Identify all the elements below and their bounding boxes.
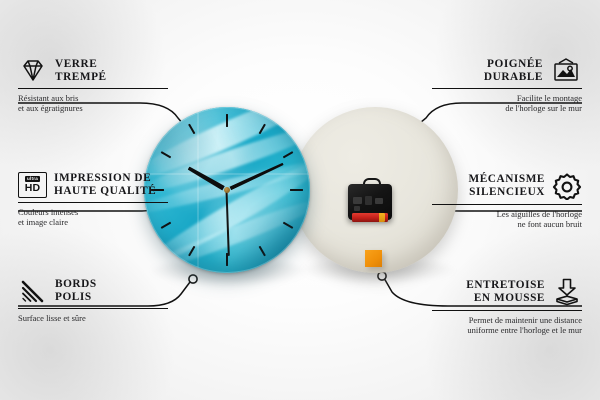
- callout-entretoise-en-mousse[interactable]: ENTRETOISE EN MOUSSE Permet de maintenir…: [432, 278, 582, 336]
- callout-bords-polis[interactable]: BORDS POLIS Surface lisse et sûre: [18, 278, 168, 323]
- callout-description: ne font aucun bruit: [432, 219, 582, 229]
- callout-description: Les aiguilles de l'horloge: [432, 209, 582, 219]
- callout-description: de l'horloge sur le mur: [432, 103, 582, 113]
- callout-divider: [432, 310, 582, 311]
- callout-description: et image claire: [18, 217, 168, 227]
- front-clock-face: [144, 107, 310, 273]
- callout-title: BORDS: [55, 278, 97, 291]
- gear-icon: [552, 172, 582, 200]
- callout-description: et aux égratignures: [18, 103, 168, 113]
- callout-description: Surface lisse et sûre: [18, 313, 168, 323]
- callout-title: POIGNÉE: [484, 58, 543, 71]
- callout-description: Couleurs intenses: [18, 207, 168, 217]
- glass-rim: [144, 107, 310, 273]
- diamond-icon: [18, 58, 48, 84]
- callout-title: DURABLE: [484, 71, 543, 84]
- callout-impression-haute-qualite[interactable]: ultra HD IMPRESSION DE HAUTE QUALITÉ Cou…: [18, 172, 168, 228]
- ultra-hd-icon-large-text: HD: [25, 183, 41, 194]
- callout-divider: [432, 204, 582, 205]
- infographic-canvas: VERRE TREMPÉ Résistant aux bris et aux é…: [0, 0, 600, 400]
- callout-divider: [18, 308, 168, 309]
- callout-description: uniforme entre l'horloge et le mur: [432, 325, 582, 335]
- mechanism-detail: [365, 196, 372, 205]
- callout-poignee-durable[interactable]: POIGNÉE DURABLE Facilite le montage de l…: [432, 58, 582, 114]
- mechanism-body: [348, 184, 392, 220]
- callout-divider: [432, 88, 582, 89]
- foam-spacer-sample: [365, 250, 382, 267]
- callout-title: IMPRESSION DE: [54, 172, 156, 185]
- callout-title: TREMPÉ: [55, 71, 107, 84]
- callout-description: Permet de maintenir une distance: [432, 315, 582, 325]
- callout-mecanisme-silencieux[interactable]: MÉCANISME SILENCIEUX Les aiguilles de l'…: [432, 172, 582, 230]
- callout-title: HAUTE QUALITÉ: [54, 185, 156, 198]
- picture-hanger-icon: [550, 58, 582, 84]
- mechanism-detail: [354, 206, 360, 211]
- callout-title: MÉCANISME: [469, 173, 546, 186]
- mechanism-detail: [375, 198, 383, 204]
- callout-title: EN MOUSSE: [466, 292, 545, 305]
- ultra-hd-icon: ultra HD: [18, 172, 47, 198]
- callout-description: Facilite le montage: [432, 93, 582, 103]
- clock-mechanism-icon: [348, 178, 392, 220]
- battery-terminal: [379, 213, 385, 222]
- callout-description: Résistant aux bris: [18, 93, 168, 103]
- callout-verre-trempe[interactable]: VERRE TREMPÉ Résistant aux bris et aux é…: [18, 58, 168, 114]
- callout-divider: [18, 202, 168, 203]
- callout-title: POLIS: [55, 291, 97, 304]
- callout-title: SILENCIEUX: [469, 186, 546, 199]
- foam-spacer-icon: [552, 278, 582, 306]
- callout-title: VERRE: [55, 58, 107, 71]
- mechanism-detail: [353, 197, 362, 204]
- callout-title: ENTRETOISE: [466, 279, 545, 292]
- callout-divider: [18, 88, 168, 89]
- polished-edges-icon: [18, 278, 48, 304]
